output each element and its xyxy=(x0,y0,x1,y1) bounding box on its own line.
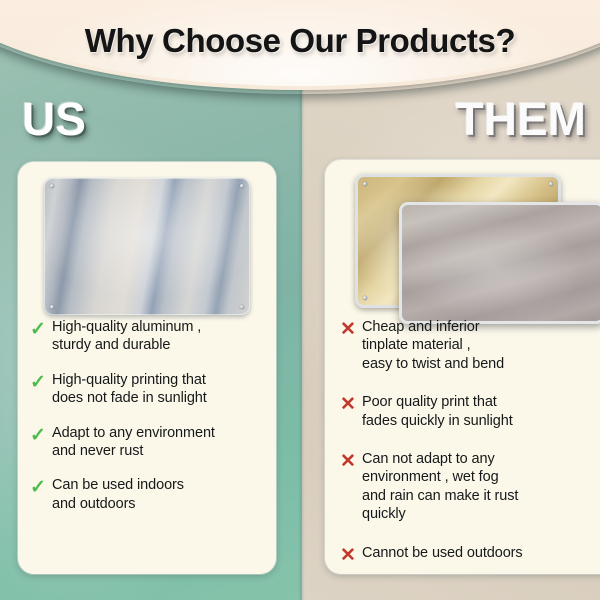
cross-icon: ✕ xyxy=(340,544,362,567)
screw-hole-icon xyxy=(50,305,54,309)
list-item-label: Adapt to any environment and never rust xyxy=(52,424,215,461)
list-item: ✓ Adapt to any environment and never rus… xyxy=(30,424,270,461)
list-item: ✓ Can be used indoors and outdoors xyxy=(30,476,270,513)
screw-hole-icon xyxy=(363,296,367,300)
screw-hole-icon xyxy=(240,305,244,309)
check-icon: ✓ xyxy=(30,318,52,341)
check-icon: ✓ xyxy=(30,371,52,394)
list-item-label: Can be used indoors and outdoors xyxy=(52,476,184,513)
cross-icon: ✕ xyxy=(340,393,362,416)
list-item-label: Poor quality print that fades quickly in… xyxy=(362,393,513,430)
list-item: ✕ Poor quality print that fades quickly … xyxy=(340,393,600,430)
screw-hole-icon xyxy=(240,184,244,188)
list-item: ✕ Cannot be used outdoors xyxy=(340,544,600,567)
page-title: Why Choose Our Products? xyxy=(0,22,600,60)
check-icon: ✓ xyxy=(30,424,52,447)
list-item: ✕ Can not adapt to any environment , wet… xyxy=(340,450,600,524)
check-icon: ✓ xyxy=(30,476,52,499)
left-panel-label: US xyxy=(22,96,86,142)
left-benefit-list: ✓ High-quality aluminum , sturdy and dur… xyxy=(30,318,270,529)
comparison-poster: Why Choose Our Products? US THEM ✓ High-… xyxy=(0,0,600,600)
screw-hole-icon xyxy=(50,184,54,188)
cross-icon: ✕ xyxy=(340,450,362,473)
right-panel-label: THEM xyxy=(456,96,586,142)
list-item-label: Can not adapt to any environment , wet f… xyxy=(362,450,518,524)
aluminum-sign-image xyxy=(44,178,250,315)
screw-hole-icon xyxy=(363,182,367,186)
list-item: ✕ Cheap and inferior tinplate material ,… xyxy=(340,318,600,373)
screw-hole-icon xyxy=(549,182,553,186)
list-item-label: Cannot be used outdoors xyxy=(362,544,523,562)
silver-tinplate-sign-image xyxy=(399,202,600,324)
list-item-label: Cheap and inferior tinplate material , e… xyxy=(362,318,504,373)
right-drawback-list: ✕ Cheap and inferior tinplate material ,… xyxy=(340,318,600,587)
list-item: ✓ High-quality aluminum , sturdy and dur… xyxy=(30,318,270,355)
list-item: ✓ High-quality printing that does not fa… xyxy=(30,371,270,408)
list-item-label: High-quality printing that does not fade… xyxy=(52,371,207,408)
list-item-label: High-quality aluminum , sturdy and durab… xyxy=(52,318,201,355)
cross-icon: ✕ xyxy=(340,318,362,341)
